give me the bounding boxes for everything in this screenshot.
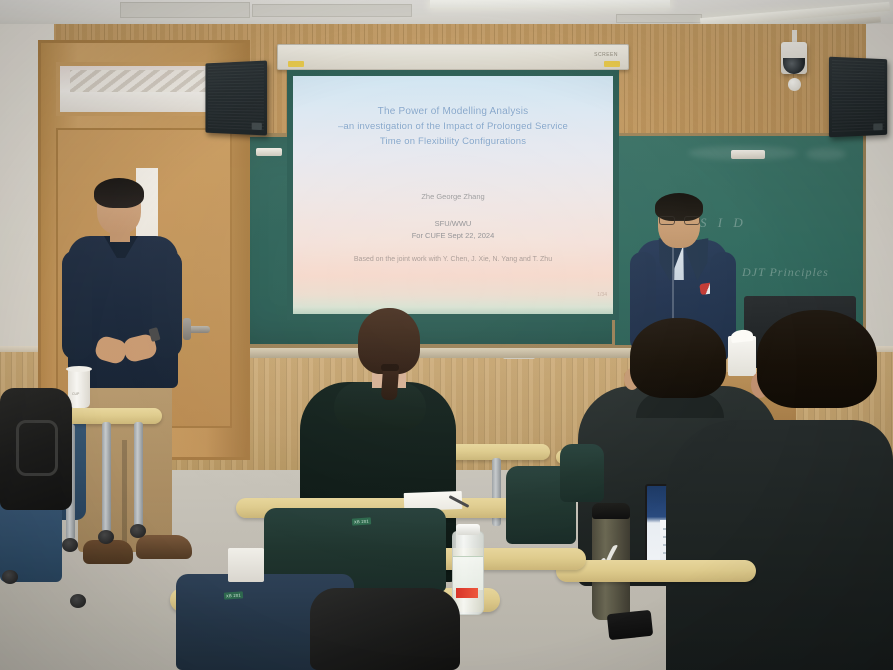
backpack-strap <box>16 420 58 476</box>
bottle-label-accent <box>456 588 478 598</box>
housing-brand-label: SCREEN <box>594 52 618 58</box>
bottle-label <box>453 556 483 590</box>
hood <box>334 382 426 430</box>
slide-title-line-3: Time on Flexibility Configurations <box>307 134 599 149</box>
slide-title-line-1: The Power of Modelling Analysis <box>307 104 599 119</box>
shoulder-bag[interactable] <box>310 588 460 670</box>
bottle-cap[interactable] <box>456 524 480 535</box>
housing-tab-left <box>288 61 304 67</box>
presentation-slide: The Power of Modelling Analysis –an inve… <box>293 76 613 314</box>
table-leg <box>102 422 111 532</box>
bottle-cap[interactable] <box>592 503 630 519</box>
cup-rim <box>66 366 92 372</box>
slide-author: Zhe George Zhang <box>307 192 599 201</box>
classroom-photo-scene: S I D DJT Principles SCREEN The Power of… <box>0 0 893 670</box>
ceiling-panel <box>252 4 412 17</box>
slide-affiliation: SFU/WWU For CUFE Sept 22, 2024 <box>307 218 599 242</box>
housing-tab-right <box>604 61 620 67</box>
ceiling-vent <box>616 14 702 23</box>
cup-print: CUP <box>72 392 79 396</box>
hair-tie <box>381 364 399 371</box>
slide-title-line-2: –an investigation of the Impact of Prolo… <box>307 119 599 134</box>
glasses-lens <box>684 216 700 225</box>
audience-right-hair <box>757 310 877 408</box>
classroom-chair[interactable] <box>560 444 604 502</box>
chalkboard-eraser[interactable] <box>731 150 765 159</box>
audience-center-hair <box>630 318 726 398</box>
audience-right-jacket <box>666 420 893 670</box>
glasses-lens <box>659 216 675 225</box>
slide-credit-line: Based on the joint work with Y. Chen, J.… <box>301 256 605 263</box>
slide-title: The Power of Modelling Analysis –an inve… <box>307 104 599 149</box>
chair-caster <box>70 594 86 608</box>
table-caster <box>130 524 146 538</box>
chair-asset-label: XB 201 <box>352 517 371 525</box>
presenter-left-arm <box>152 250 182 358</box>
glasses-bridge <box>675 220 684 221</box>
table-caster <box>62 538 78 552</box>
projection-screen-housing[interactable]: SCREEN <box>277 44 629 70</box>
notebook[interactable] <box>228 548 264 582</box>
door-latch[interactable] <box>183 318 191 340</box>
chalkboard-eraser[interactable] <box>256 148 282 156</box>
slide-affiliation-org: SFU/WWU <box>307 218 599 230</box>
chalk-smudge <box>806 148 846 160</box>
chair-caster <box>2 570 18 584</box>
presenter-left-hair <box>94 178 144 208</box>
camera-sensor-ball <box>788 78 801 91</box>
table-leg <box>134 422 143 528</box>
ceiling-light <box>430 0 670 8</box>
speaker-badge <box>252 123 262 131</box>
presenter-left-shoe <box>136 535 192 559</box>
ceiling-panel <box>120 2 250 18</box>
chair-asset-label: XB 201 <box>224 591 243 599</box>
wall-speaker-right <box>829 57 887 138</box>
slide-event: For CUFE Sept 22, 2024 <box>307 230 599 242</box>
student-desk <box>556 560 756 582</box>
wall-speaker-left <box>205 60 267 135</box>
table-caster <box>98 530 114 544</box>
presenter-left-arm <box>62 250 92 360</box>
speaker-badge <box>873 123 882 130</box>
tissue-sheet <box>730 329 753 343</box>
smartphone[interactable] <box>607 610 653 640</box>
eyeglasses-icon <box>659 216 700 225</box>
trouser-seam <box>122 440 127 552</box>
slide-page-number: 1/34 <box>597 292 607 298</box>
